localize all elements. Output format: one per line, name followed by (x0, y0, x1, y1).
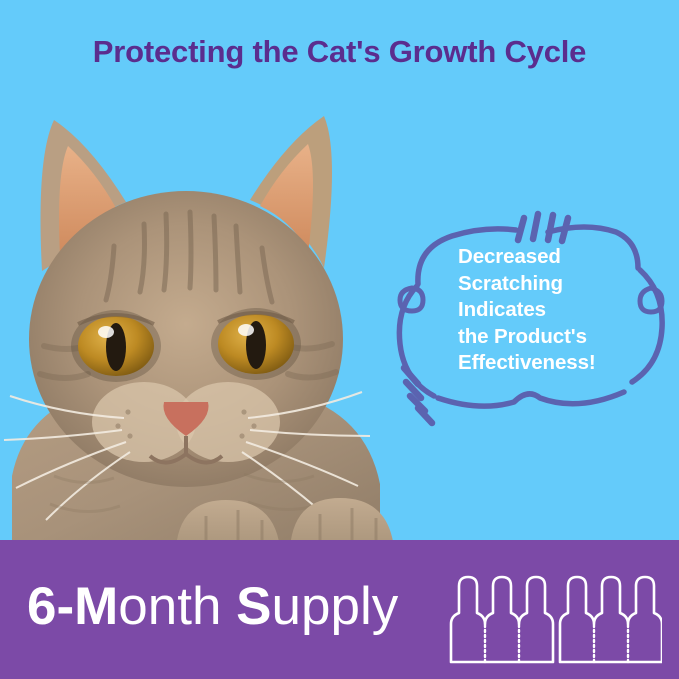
pipette-perforations (485, 625, 628, 662)
pipette-group-1 (451, 577, 553, 662)
callout-text: Decreased Scratching Indicates the Produ… (458, 244, 673, 377)
callout-line-4: the Product's (458, 324, 673, 351)
supply-label-part-3: S (236, 577, 271, 636)
pipette-applicators-icon (447, 573, 662, 665)
cat-illustration (0, 96, 414, 566)
page-title: Protecting the Cat's Growth Cycle (0, 34, 679, 70)
callout-line-5: Effectiveness! (458, 350, 673, 377)
supply-label: 6-Month Supply (27, 576, 398, 638)
supply-label-part-2: onth (118, 577, 236, 636)
cat-photo (0, 96, 414, 566)
product-poster: Protecting the Cat's Growth Cycle (0, 0, 679, 679)
pipette-group-2 (560, 577, 662, 662)
callout-line-3: Indicates (458, 297, 673, 324)
callout-line-1: Decreased (458, 244, 673, 271)
supply-label-part-4: upply (272, 577, 399, 636)
supply-label-part-1: 6-M (27, 577, 118, 636)
callout-speech-bubble: Decreased Scratching Indicates the Produ… (388, 196, 679, 432)
callout-line-2: Scratching (458, 271, 673, 298)
supply-banner: 6-Month Supply (0, 540, 679, 679)
